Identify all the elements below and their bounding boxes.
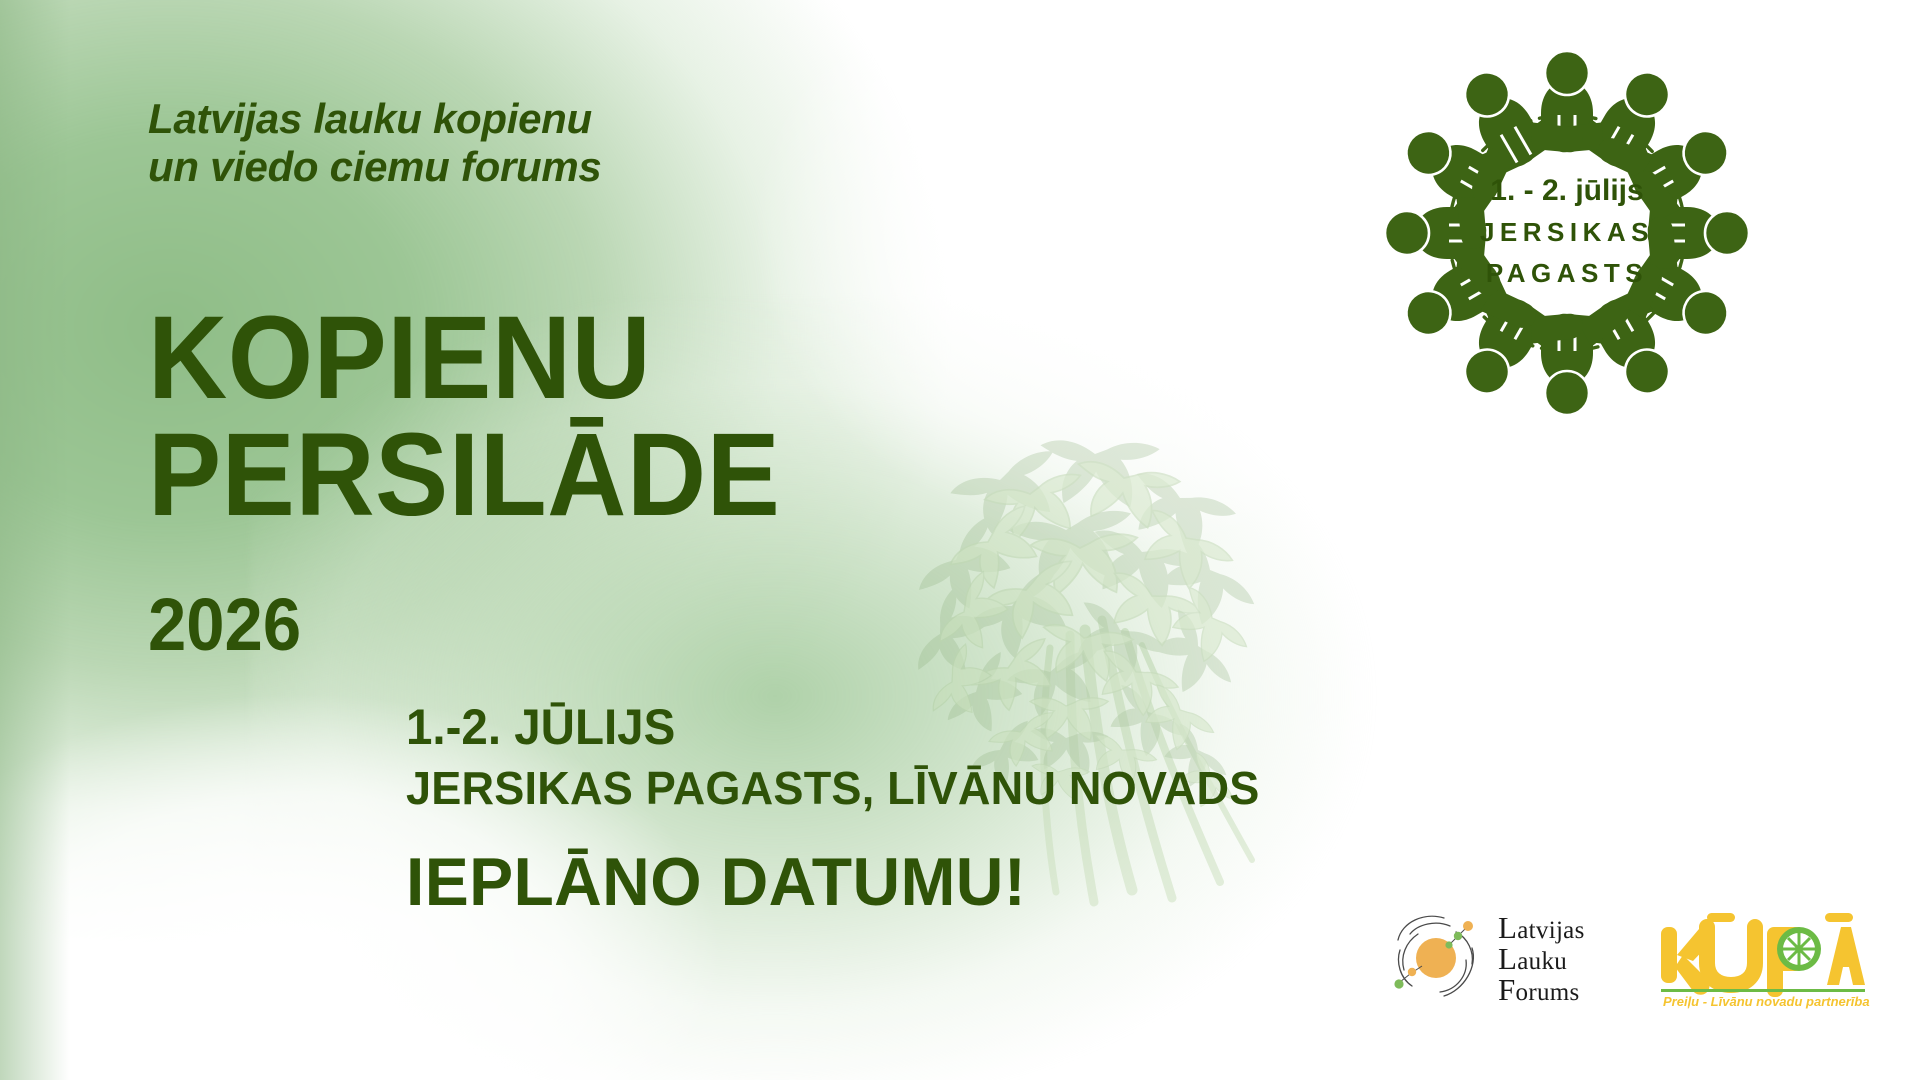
- emblem-figure-ring: [1378, 44, 1755, 421]
- event-year: 2026: [148, 588, 301, 662]
- llf-line-1: Latvijas: [1498, 912, 1585, 943]
- call-to-action: IEPLĀNO DATUMU!: [406, 848, 1026, 916]
- kupa-tagline: Preiļu - Līvānu novadu partnerība: [1663, 994, 1870, 1009]
- latvijas-lauku-forums-mark-icon: [1382, 904, 1490, 1012]
- poster-canvas: Latvijas lauku kopienu un viedo ciemu fo…: [0, 0, 1920, 1080]
- logo-latvijas-lauku-forums: Latvijas Lauku Forums: [1382, 898, 1612, 1018]
- page-title: KOPIENU PERSILĀDE: [148, 300, 780, 534]
- background-left-edge-tint: [0, 0, 70, 1080]
- event-location: JERSIKAS PAGASTS, LĪVĀNU NOVADS: [406, 765, 1260, 811]
- llf-line-2: Lauku: [1498, 943, 1585, 974]
- event-subtitle: Latvijas lauku kopienu un viedo ciemu fo…: [148, 95, 601, 191]
- latvijas-lauku-forums-wordmark: Latvijas Lauku Forums: [1498, 912, 1585, 1005]
- event-date: 1.-2. JŪLIJS: [406, 702, 675, 752]
- kupa-logo-icon: Preiļu - Līvānu novadu partnerība: [1655, 905, 1870, 1010]
- people-circle-icon: [1362, 28, 1772, 438]
- llf-line-3: Forums: [1498, 974, 1585, 1005]
- logo-kupa: Preiļu - Līvānu novadu partnerība: [1655, 905, 1870, 1010]
- people-circle-emblem: 1. - 2. jūlijs JERSIKAS PAGASTS: [1362, 28, 1772, 438]
